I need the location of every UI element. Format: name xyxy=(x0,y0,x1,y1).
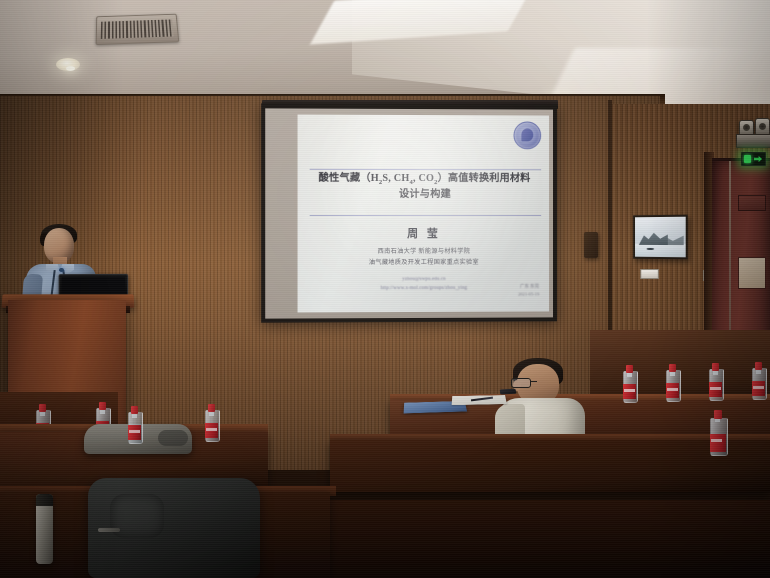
water-bottle[interactable] xyxy=(128,406,141,444)
slide-affiliation: 西南石油大学 新能源与材料学院 油气藏地质及开发工程国家重点实验室 xyxy=(298,247,550,269)
title-rule-bottom xyxy=(310,215,542,216)
slide-title-c: , CO xyxy=(413,173,434,184)
recessed-downlight-core xyxy=(66,66,75,71)
bottle-label xyxy=(752,381,765,396)
presenter-microphone xyxy=(59,268,64,272)
bottle-cap xyxy=(755,362,762,370)
air-vent-icon xyxy=(96,14,180,45)
screen-surface: 酸性气藏（H2S, CH4, CO2）高值转换利用材料设计与构建 周 莹 西南石… xyxy=(265,108,553,318)
water-bottle[interactable] xyxy=(709,363,722,401)
presentation-slide: 酸性气藏（H2S, CH4, CO2）高值转换利用材料设计与构建 周 莹 西南石… xyxy=(298,115,550,313)
bottle-cap xyxy=(626,365,633,373)
affiliation-line-2: 油气藏地质及开发工程国家重点实验室 xyxy=(298,258,550,269)
painting-water xyxy=(635,244,686,257)
mid-desk xyxy=(330,440,770,492)
smartphone[interactable] xyxy=(500,389,517,395)
backpack-zipper-pull[interactable] xyxy=(98,528,120,532)
slide-url: http://www.x-mol.com/groups/zhou_ying xyxy=(298,284,550,294)
slide-date: 2021-05-19 xyxy=(518,291,539,300)
bottle-label xyxy=(128,425,141,440)
water-bottle[interactable] xyxy=(623,365,636,403)
exit-sign-icon xyxy=(741,152,766,166)
painting-boat xyxy=(646,248,654,250)
water-bottle[interactable] xyxy=(752,362,765,400)
bottle-cap xyxy=(208,404,215,412)
slide-title-line2: 设计与构建 xyxy=(399,189,451,200)
affiliation-line-1: 西南石油大学 新能源与材料学院 xyxy=(298,247,550,258)
slide-title-d: ）高值转换利用材料 xyxy=(438,173,531,184)
bottle-label xyxy=(710,434,726,452)
slide-title-b: S, CH xyxy=(382,173,409,184)
bottle-cap xyxy=(99,402,106,410)
water-bottle[interactable] xyxy=(710,410,726,456)
bottle-label xyxy=(666,383,679,398)
bottle-label xyxy=(623,384,636,399)
bottle-cap xyxy=(131,406,138,414)
slide-author: 周 莹 xyxy=(298,225,550,241)
bottle-label xyxy=(205,423,218,438)
landscape-painting xyxy=(633,215,688,260)
bottle-cap xyxy=(39,404,46,412)
projection-screen: 酸性气藏（H2S, CH4, CO2）高值转换利用材料设计与构建 周 莹 西南石… xyxy=(261,103,557,322)
water-bottle[interactable] xyxy=(666,364,679,402)
university-seal-logo xyxy=(513,121,541,149)
door-panel-upper xyxy=(738,195,766,211)
title-rule-top xyxy=(310,169,542,170)
conference-room-scene: 酸性气藏（H2S, CH4, CO2）高值转换利用材料设计与构建 周 莹 西南石… xyxy=(0,0,770,578)
bottle-cap xyxy=(714,410,722,419)
door-panel-notice xyxy=(738,257,766,289)
bottle-cap xyxy=(669,364,676,372)
thermos-flask[interactable] xyxy=(36,494,53,564)
slide-title: 酸性气藏（H2S, CH4, CO2）高值转换利用材料设计与构建 xyxy=(308,172,542,203)
eyeglasses-icon xyxy=(511,378,531,388)
speaker-mount-bracket xyxy=(736,134,770,148)
water-bottle[interactable] xyxy=(205,404,218,442)
slide-place: 广东 东莞 xyxy=(518,282,539,291)
slide-title-a: 酸性气藏（H xyxy=(319,173,379,184)
wall-speaker xyxy=(584,232,598,258)
front-right-desk xyxy=(300,500,770,578)
light-switch-plate[interactable] xyxy=(640,269,659,279)
bottle-cap xyxy=(712,363,719,371)
slide-place-date: 广东 东莞 2021-05-19 xyxy=(518,282,539,299)
slide-contact: yzhou@swpu.edu.cn http://www.x-mol.com/g… xyxy=(298,275,550,294)
bottle-label xyxy=(709,382,722,397)
